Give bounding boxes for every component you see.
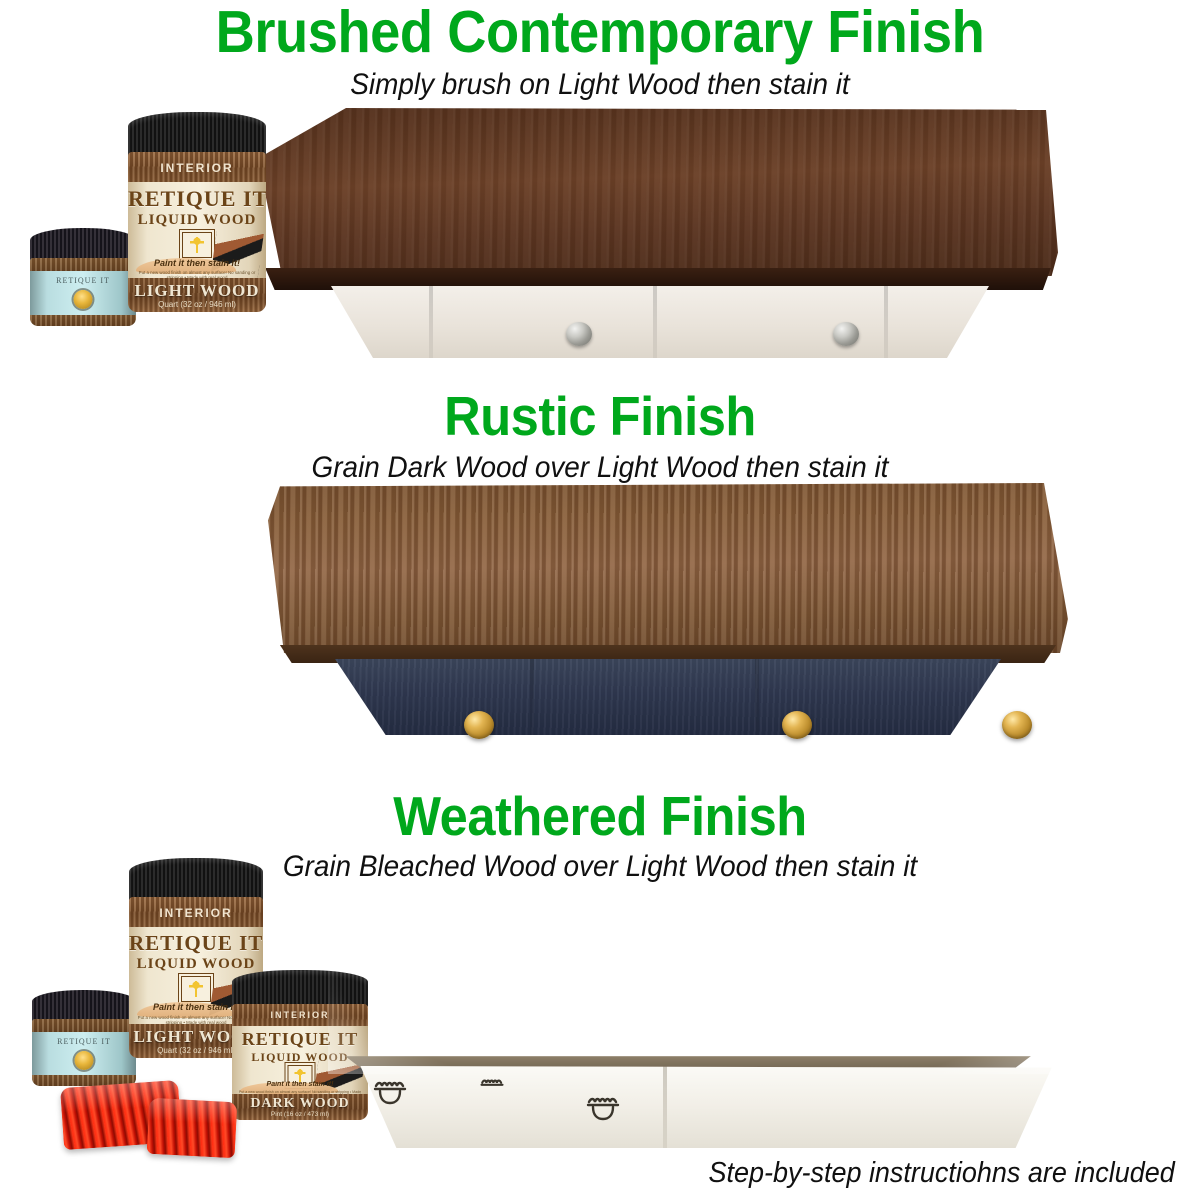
infographic-page: Brushed Contemporary Finish Simply brush…: [0, 0, 1200, 1200]
jar-label: RETIQUE IT LIQUID WOOD Paint it then sta…: [128, 182, 266, 280]
furniture-rustic-dresser: [268, 483, 1068, 733]
jar-wood-band-bottom: [30, 315, 136, 326]
section-brushed-contemporary: Brushed Contemporary Finish Simply brush…: [0, 0, 1200, 385]
jar-product-line: LIQUID WOOD: [128, 212, 266, 229]
footnote-instructions: Step-by-step instructiohns are included: [708, 1157, 1174, 1190]
product-jar-light-wood-quart: INTERIOR RETIQUE IT LIQUID WOOD Paint it…: [128, 112, 266, 312]
dresser-top-grained-wood: [268, 483, 1068, 653]
top-surface-fade: [328, 884, 1200, 1074]
section-subtitle-rustic: Grain Dark Wood over Light Wood then sta…: [42, 451, 1158, 485]
drawer-pull-ornate: [370, 1080, 410, 1110]
drawer-pull-ornate: [478, 1078, 506, 1100]
fleur-de-lis-emblem-icon: [182, 232, 212, 258]
section-title-brushed: Brushed Contemporary Finish: [48, 0, 1152, 66]
jar-brand-name: RETIQUE IT: [30, 276, 136, 285]
dresser-top-dark-walnut: [258, 108, 1058, 276]
furniture-brushed-dresser: [258, 108, 1058, 348]
drawer-knob-silver: [833, 322, 859, 346]
dresser-drawers-antique-white: [346, 1066, 1066, 1148]
section-subtitle-weathered: Grain Bleached Wood over Light Wood then…: [42, 850, 1158, 884]
section-title-weathered: Weathered Finish: [48, 784, 1152, 848]
product-jar-teal-small: RETIQUE IT: [30, 228, 136, 326]
jar-interior-text: INTERIOR: [128, 161, 266, 175]
jar-tagline: Paint it then stain it!: [128, 258, 266, 268]
drawer-knob-gold: [782, 711, 812, 739]
drawer-pull-ornate: [583, 1096, 623, 1126]
jar-wood-band-bottom: LIGHT WOOD Quart (32 oz / 946 ml): [128, 278, 266, 312]
drawer-knob-gold: [464, 711, 494, 739]
jar-variant-name: LIGHT WOOD: [128, 281, 266, 301]
dresser-drawers-white: [310, 286, 1010, 358]
jar-emblem-icon: [74, 290, 93, 309]
jar-wood-band-top: INTERIOR: [128, 152, 266, 182]
furniture-weathered-dresser: [328, 884, 1200, 1184]
drawer-knob-gold: [1002, 711, 1032, 739]
jar-body: INTERIOR RETIQUE IT LIQUID WOOD Paint it…: [128, 152, 266, 312]
jar-wood-band-top: [30, 258, 136, 271]
drawer-knob-silver: [566, 322, 592, 346]
jar-brand-name: RETIQUE IT: [128, 186, 266, 212]
dresser-drawers-navy: [306, 659, 1030, 735]
section-title-rustic: Rustic Finish: [48, 384, 1152, 448]
section-subtitle-brushed: Simply brush on Light Wood then stain it: [42, 68, 1158, 102]
jar-size-text: Quart (32 oz / 946 ml): [128, 300, 266, 309]
jar-body: RETIQUE IT: [30, 258, 136, 326]
section-weathered: Weathered Finish Grain Bleached Wood ove…: [0, 776, 1200, 1200]
section-rustic: Rustic Finish Grain Dark Wood over Light…: [0, 378, 1200, 778]
